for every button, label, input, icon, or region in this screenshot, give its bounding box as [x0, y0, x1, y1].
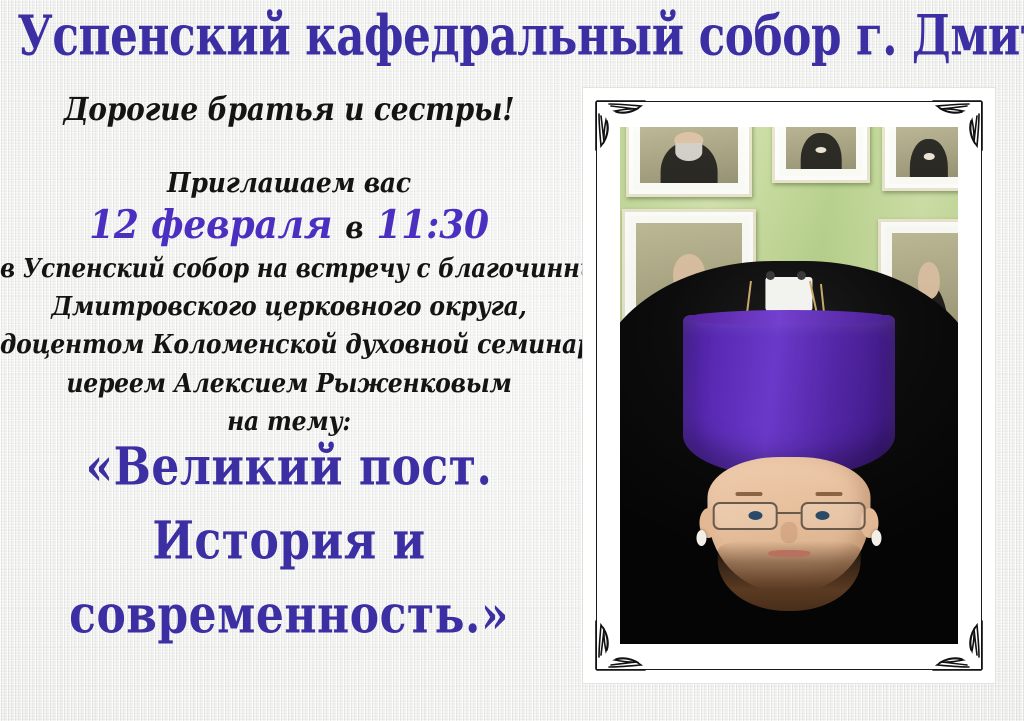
body-line-1: в Успенский собор на встречу с благочинн…: [0, 255, 578, 281]
poster-canvas: Успенский кафедральный собор г. Дмитров …: [0, 0, 1024, 721]
announcement-body: в Успенский собор на встречу с благочинн…: [0, 257, 578, 434]
skufia-strap: [696, 530, 706, 546]
topic-line-2: История и: [0, 516, 578, 568]
title-area: Успенский кафедральный собор г. Дмитров: [0, 8, 1024, 55]
photo-frame: Иерей Алексий Рыженков в фиолетовой скуф…: [583, 88, 995, 683]
body-line-3: доцентом Коломенской духовной семинарии: [0, 332, 578, 359]
skufia-strap: [872, 530, 882, 546]
body-line-2: Дмитровского церковного округа,: [0, 293, 578, 320]
topic-line-1: «Великий пост.: [0, 442, 578, 494]
kamilavka-hat: [683, 315, 895, 477]
event-time: 11:30: [376, 202, 489, 248]
body-line-4: иереем Алексием Рыженковым: [0, 370, 578, 397]
page-title: Успенский кафедральный собор г. Дмитров: [17, 8, 1024, 65]
priest-photograph: Иерей Алексий Рыженков в фиолетовой скуф…: [620, 127, 958, 644]
cassock-button: [765, 271, 774, 280]
datetime-preposition: в: [345, 210, 363, 246]
datetime-line: 12 февраляв11:30: [0, 205, 578, 247]
topic-line-3: современность.»: [0, 590, 578, 642]
priest-figure: [620, 261, 958, 644]
lecture-topic: «Великий пост. История и современность.»: [0, 446, 578, 638]
cassock-button: [797, 271, 806, 280]
clerical-collar: [765, 277, 812, 311]
announcement-text-column: Дорогие братья и сестры! Приглашаем вас …: [0, 96, 578, 638]
greeting-line: Дорогие братья и сестры!: [0, 94, 578, 125]
invitation-line: Приглашаем вас: [0, 169, 578, 197]
body-line-5: на тему:: [0, 409, 578, 436]
priest-face: [707, 457, 870, 592]
event-date: 12 февраля: [89, 202, 332, 248]
